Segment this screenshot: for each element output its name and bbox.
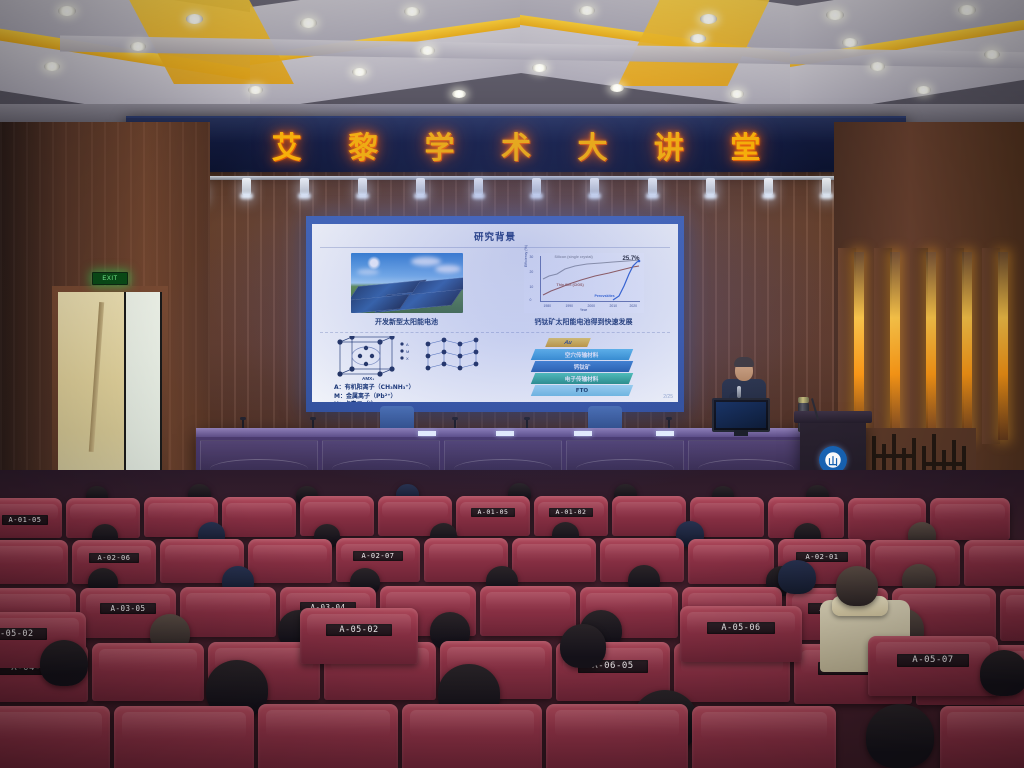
seat-number: A-05-07 (897, 654, 969, 667)
stack-layer-hole-transport: 空穴传输材料 (530, 349, 632, 360)
auditorium-seat[interactable]: A-01-05 (456, 496, 530, 536)
ceiling (0, 0, 1024, 118)
stage-spotlight (416, 178, 425, 195)
auditorium-seat[interactable] (612, 496, 686, 536)
stage-spotlight (474, 178, 483, 195)
auditorium-seat[interactable] (480, 586, 576, 636)
open-doorway[interactable] (58, 292, 162, 492)
svg-text:M: M (406, 349, 409, 354)
handheld-microphone (737, 386, 741, 398)
auditorium-seat[interactable]: A-01-05 (0, 498, 62, 538)
seat-number: A-01-05 (2, 515, 48, 525)
crystal-structure-cell: A M X (322, 336, 491, 402)
legend-symbol-x: X (334, 401, 339, 402)
stage-spotlight (532, 178, 541, 195)
perovskite-device-stack: Au 空穴传输材料 钙钛矿 电子传输材料 FTO (525, 336, 643, 398)
stack-layer-perovskite: 钙钛矿 (530, 361, 632, 372)
slide-title: 研究背景 (312, 224, 678, 243)
chart-ylabel: Efficiency (%) (524, 245, 528, 267)
hall-banner: 艾 黎 学 术 大 讲 堂 (126, 116, 906, 172)
seat-number: A-05-02 (326, 624, 392, 636)
auditorium-seat[interactable] (114, 706, 254, 768)
auditorium-seat[interactable]: A-05-07 (868, 636, 998, 696)
stage-spotlight (706, 178, 715, 195)
audience-head (866, 704, 934, 768)
lecture-hall-photo: 艾 黎 学 术 大 讲 堂 研究背景 (0, 0, 1024, 768)
seat-number: A-01-02 (549, 508, 593, 517)
device-stack-cell: Au 空穴传输材料 钙钛矿 电子传输材料 FTO (499, 336, 668, 402)
stack-layer-fto: FTO (530, 385, 632, 396)
stage-chair (380, 406, 414, 428)
perovskite-crystal-diagram: A M X (332, 336, 482, 382)
auditorium-seat[interactable] (248, 539, 332, 583)
projection-screen: 研究背景 开发新型太阳能电池 (306, 216, 684, 412)
auditorium-seat[interactable] (0, 540, 68, 584)
exit-door-frame: EXIT (52, 286, 168, 498)
solar-photo-cell: 开发新型太阳能电池 (322, 253, 491, 327)
audience-head (836, 566, 878, 606)
desk-nameplate (496, 431, 514, 436)
efficiency-chart-cell: Efficiency (%) 30 20 10 0 (499, 253, 668, 327)
slide-page-number: 2/25 (663, 394, 673, 400)
stage-spotlight (590, 178, 599, 195)
legend-symbol-a: A (334, 384, 339, 391)
audience-head (40, 640, 88, 686)
auditorium-seat[interactable]: A-05-06 (680, 606, 802, 662)
auditorium-seat[interactable] (546, 704, 688, 768)
desk-nameplate (418, 431, 436, 436)
chart-annotation-peak: 25.7% (622, 256, 639, 262)
seat-number: A-01-05 (471, 508, 515, 517)
stage-spotlight (300, 178, 309, 195)
legend-text-a: 有机阳离子（CH₃NH₃⁺） (345, 384, 415, 391)
stack-layer-electron-transport: 电子传输材料 (530, 373, 632, 384)
presenter-monitor (712, 398, 770, 432)
crystal-legend: A：有机阳离子（CH₃NH₃⁺） M：金属离子（Pb²⁺） X：卤素元（I） (334, 384, 415, 402)
legend-text-m: 金属离子（Pb²⁺） (346, 393, 397, 400)
stage-chair (588, 406, 622, 428)
auditorium-seat[interactable] (692, 706, 836, 768)
presentation-slide: 研究背景 开发新型太阳能电池 (312, 224, 678, 402)
auditorium-seat[interactable]: A-05-02 (300, 608, 418, 664)
auditorium-seat[interactable] (512, 538, 596, 582)
slide-bottom-row: A M X (312, 333, 678, 402)
seat-number: A-05-02 (0, 628, 47, 640)
solar-panel-photo (351, 253, 463, 313)
stage-spotlight (822, 178, 831, 195)
stage-spotlight (358, 178, 367, 195)
legend-text-x: 卤素元（I） (345, 401, 377, 402)
stage-spotlight (648, 178, 657, 195)
auditorium-seat[interactable] (222, 497, 296, 537)
legend-symbol-m: M (334, 393, 340, 400)
presenter-hair (734, 357, 754, 367)
auditorium-seat[interactable] (0, 706, 110, 768)
auditorium-seat[interactable] (964, 540, 1024, 586)
svg-text:X: X (406, 356, 409, 361)
slide-top-row: 开发新型太阳能电池 Efficiency (%) 30 20 10 0 (312, 248, 678, 327)
glass-door-panel[interactable] (124, 292, 162, 492)
tree-outside (89, 302, 104, 452)
left-caption: 开发新型太阳能电池 (375, 317, 438, 327)
auditorium-seat[interactable] (688, 539, 774, 584)
stage-spotlight (764, 178, 773, 195)
exit-sign: EXIT (92, 272, 128, 285)
seat-number: A-03-05 (100, 603, 156, 614)
emblem-glyph: 山 (828, 453, 838, 468)
chart-xlabel: Year (580, 308, 587, 312)
auditorium-seat[interactable] (402, 704, 542, 768)
series-label-perovskite: Perovskites (595, 294, 615, 298)
auditorium-seat[interactable] (258, 704, 398, 768)
chart-plot-area: Silicon (single crystal) Thin film (CIGS… (540, 256, 640, 302)
auditorium-seat[interactable] (940, 706, 1024, 768)
structure-formula-label: AMX₃ (362, 376, 374, 381)
audience-head (560, 624, 606, 668)
desk-nameplate (656, 431, 674, 436)
seat-number: A-02-06 (89, 553, 139, 563)
stage-spotlight (242, 178, 251, 195)
stack-layer-au: Au (545, 338, 591, 347)
series-label-silicon: Silicon (single crystal) (555, 255, 593, 259)
seat-number: A-02-07 (353, 551, 403, 561)
series-label-thinfilm: Thin film (CIGS) (557, 283, 584, 287)
exit-sign-label: EXIT (102, 276, 117, 282)
auditorium-seat[interactable] (92, 643, 204, 701)
right-caption: 钙钛矿太阳能电池得到快速发展 (535, 317, 633, 327)
audience-head (778, 560, 816, 594)
svg-text:A: A (406, 342, 409, 347)
auditorium-seat[interactable] (1000, 589, 1024, 641)
seat-number: A-05-06 (707, 622, 775, 634)
audience-head (980, 650, 1024, 696)
desk-nameplate (574, 431, 592, 436)
efficiency-chart: Efficiency (%) 30 20 10 0 (524, 253, 644, 313)
auditorium-seat[interactable] (930, 498, 1010, 540)
auditorium-seat[interactable] (180, 587, 276, 637)
